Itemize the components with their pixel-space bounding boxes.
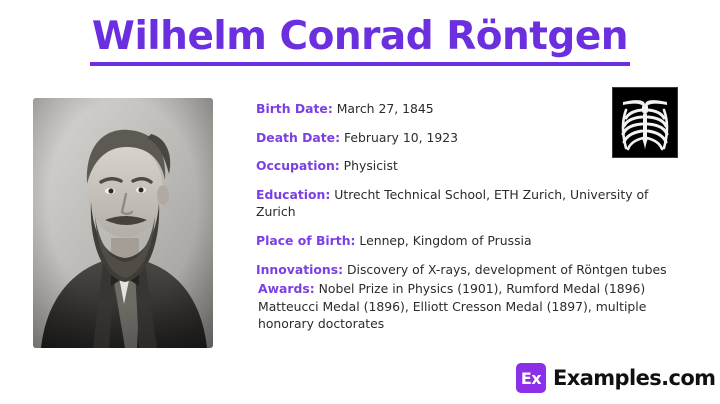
info-label: Death Date:: [256, 130, 340, 145]
info-label: Place of Birth:: [256, 233, 355, 248]
info-label: Awards:: [258, 281, 315, 296]
page-title: Wilhelm Conrad Röntgen: [90, 16, 630, 66]
page-title-container: Wilhelm Conrad Röntgen: [0, 16, 720, 66]
info-label: Innovations:: [256, 262, 343, 277]
info-row-occupation: Occupation: Physicist: [256, 157, 686, 175]
info-row-place-of-birth: Place of Birth: Lennep, Kingdom of Pruss…: [256, 232, 686, 250]
info-label: Education:: [256, 187, 330, 202]
info-label: Occupation:: [256, 158, 340, 173]
portrait-image: [33, 98, 213, 348]
logo-mark-icon: Ex: [516, 363, 546, 393]
info-label: Birth Date:: [256, 101, 333, 116]
info-value: Nobel Prize in Physics (1901), Rumford M…: [258, 281, 646, 331]
info-row-birth-date: Birth Date: March 27, 1845: [256, 100, 686, 118]
info-value: March 27, 1845: [333, 101, 434, 116]
info-row-death-date: Death Date: February 10, 1923: [256, 129, 686, 147]
info-row-awards: Awards: Nobel Prize in Physics (1901), R…: [256, 280, 686, 333]
info-value: Physicist: [340, 158, 398, 173]
info-row-education: Education: Utrecht Technical School, ETH…: [256, 186, 686, 221]
info-value: February 10, 1923: [340, 130, 458, 145]
examples-logo[interactable]: Ex Examples.com: [516, 363, 715, 393]
profile-card: Wilhelm Conrad Röntgen: [0, 0, 720, 404]
info-value: Lennep, Kingdom of Prussia: [355, 233, 531, 248]
info-value: Discovery of X-rays, development of Rönt…: [343, 262, 667, 277]
logo-text: Examples.com: [553, 366, 715, 390]
info-row-innovations: Innovations: Discovery of X-rays, develo…: [256, 261, 686, 279]
info-list: Birth Date: March 27, 1845 Death Date: F…: [256, 100, 686, 336]
portrait-photo: [33, 98, 213, 348]
